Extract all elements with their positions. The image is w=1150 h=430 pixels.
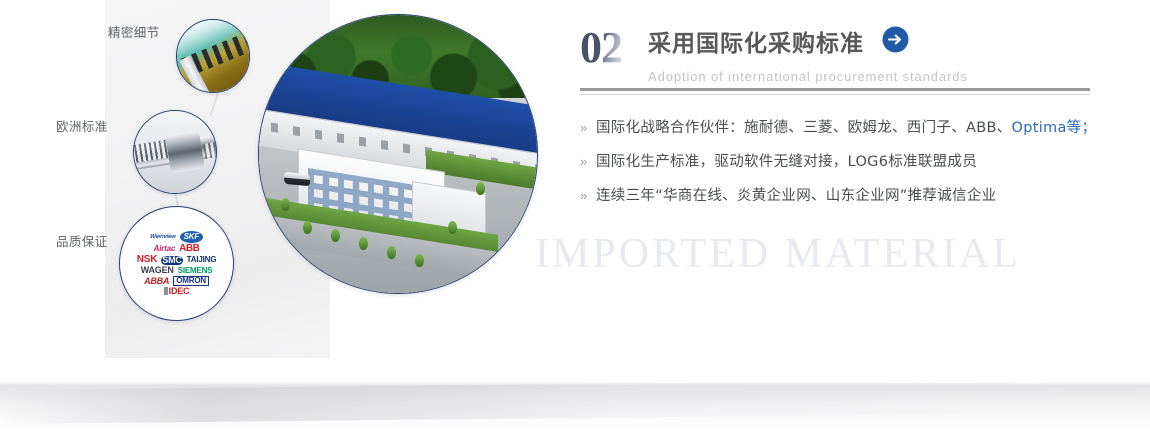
feature-list: » 国际化战略合作伙伴：施耐德、三菱、欧姆龙、西门子、ABB、Optima等； … [580,118,1100,220]
siemens-logo: SIEMENS [178,267,213,275]
page-subtitle: Adoption of international procurement st… [648,69,968,84]
abb-logo: ABB [179,244,199,254]
list-item-text-accent: Optima等； [1012,120,1097,136]
label-quality-assurance: 品质保证 [56,231,108,250]
logo-row: NSK SMC TAIJING [137,255,217,265]
abba-logo: ABBA [144,277,169,286]
list-item-text: 国际化生产标准，驱动软件无缝对接，LOG6标准联盟成员 [596,152,977,172]
divider-thin-rule [580,94,1090,95]
tree-icon [331,229,340,242]
list-item-text: 国际化战略合作伙伴：施耐德、三菱、欧姆龙、西门子、ABB、Optima等； [596,118,1096,138]
list-item: » 国际化战略合作伙伴：施耐德、三菱、欧姆龙、西门子、ABB、Optima等； [580,118,1100,138]
section-header: 02 采用国际化采购标准 Adoption of international p… [580,26,968,80]
nsk-logo: NSK [137,255,158,265]
tree-icon [415,254,424,267]
divider-thick-rule [580,88,1090,91]
circle-factory-photo[interactable] [258,14,538,294]
arrow-right-circle-icon[interactable] [882,26,909,58]
skf-logo: SKF [180,231,203,243]
taijing-logo: TAIJING [187,256,217,264]
label-precision-detail: 精密细节 [108,22,160,41]
tree-icon [476,182,485,195]
tree-icon [387,246,396,259]
watermark-text: IMPORTED MATERIAL [535,230,1150,278]
page-title: 采用国际化采购标准 [648,31,864,57]
weinview-logo: Weinview [150,234,176,240]
tree-icon [303,221,312,234]
label-european-standard: 欧洲标准 [56,116,108,135]
chevron-right-icon: » [580,152,596,172]
circle-european-standard[interactable] [133,110,217,194]
chevron-right-icon: » [580,186,596,206]
section-heading-block: 采用国际化采购标准 Adoption of international proc… [648,26,968,84]
logo-row: ABBA OMRON [144,276,209,286]
brand-logo-grid: Weinview SKF Airtac ABB NSK SMC TAIJING … [120,207,233,320]
wagen-logo: WAGEN [141,266,174,275]
airtac-logo: Airtac [154,245,175,253]
header-divider [580,88,1090,95]
logo-row: Airtac ABB [154,244,200,254]
chevron-right-icon: » [580,118,596,138]
idec-logo: IDEC [164,287,190,296]
omron-logo: OMRON [173,276,209,286]
list-item: » 国际化生产标准，驱动软件无缝对接，LOG6标准联盟成员 [580,152,1100,172]
content-column: IMPORTED MATERIAL 02 采用国际化采购标准 Adoption … [580,0,1140,378]
factory-image [259,15,537,293]
circle-quality-brands[interactable]: Weinview SKF Airtac ABB NSK SMC TAIJING … [119,206,234,321]
section-number: 02 [580,26,626,70]
smc-logo: SMC [161,256,182,265]
logo-row: Weinview SKF [150,231,203,243]
page-stage: Weinview SKF Airtac ABB NSK SMC TAIJING … [0,0,1150,430]
logo-row: IDEC [164,287,190,296]
circle-precision-detail[interactable] [176,19,250,93]
bottom-gradient-band [0,378,1150,430]
logo-row: WAGEN SIEMENS [141,266,213,275]
list-item-text: 连续三年“华商在线、炎黄企业网、山东企业网”推荐诚信企业 [596,186,996,206]
ballscrew-nut [165,131,205,174]
list-item: » 连续三年“华商在线、炎黄企业网、山东企业网”推荐诚信企业 [580,186,1100,206]
list-item-text-main: 国际化战略合作伙伴：施耐德、三菱、欧姆龙、西门子、ABB、 [596,120,1012,136]
tree-icon [448,221,457,234]
